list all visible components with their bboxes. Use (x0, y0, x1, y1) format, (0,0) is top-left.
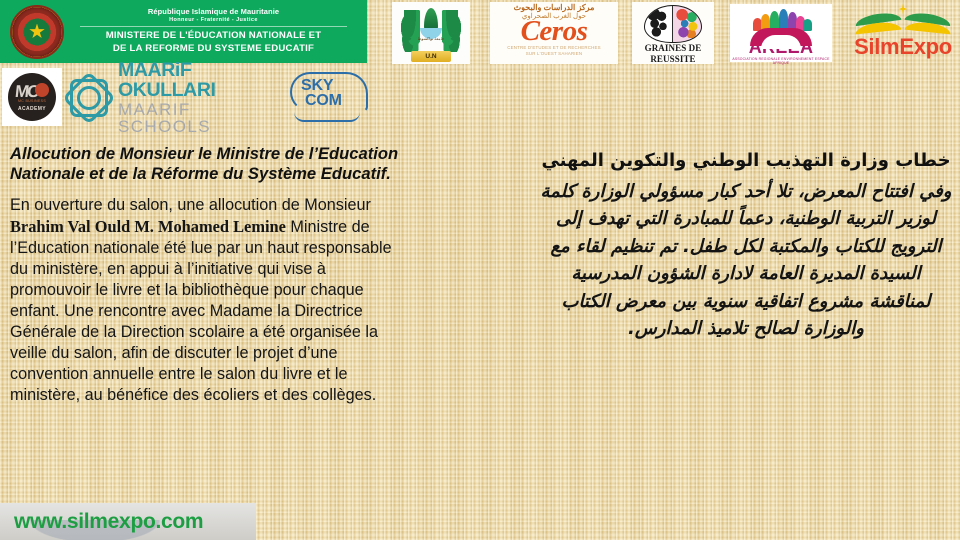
maarif-wordmark-top: MAARiF OKULLARI (118, 60, 280, 101)
ministry-country-line: République Islamique de Mauritanie (66, 7, 361, 16)
spark-icon (899, 3, 907, 15)
ministry-banner-text: République Islamique de Mauritanie Honne… (64, 5, 367, 57)
mc-dot-icon (35, 83, 49, 97)
ceros-logo: مركز الدراسات والبحوث حول الغرب الصحراوي… (490, 2, 618, 64)
un-laurel-logo: جامعة نواكشوط U.N (392, 2, 470, 64)
laurel-left-icon (400, 10, 420, 52)
french-text-column: Allocution de Monsieur le Ministre de l’… (10, 144, 410, 406)
skycom-logo: SKY COM (288, 70, 368, 124)
minister-name: Brahim Val Ould M. Mohamed Lemine (10, 217, 286, 236)
mc-academy-disc-icon: MC MC BUSINESS ACADEMY (8, 73, 56, 121)
areea-logo: AREEA ASSOCIATION REGIONALE ENVIRONNEMEN… (730, 4, 832, 62)
silmexpo-logo: SilmExpo (848, 2, 958, 64)
ministry-title-line-1: MINISTERE DE L'ÉDUCATION NATIONALE ET (66, 30, 361, 43)
arabic-body-paragraph: وفي افتتاح المعرض، تلا أحد كبار مسؤولي ا… (540, 178, 952, 342)
silmexpo-wordmark: SilmExpo (848, 36, 958, 58)
skycom-swoosh-icon (294, 112, 360, 122)
mc-academy-logo: MC MC BUSINESS ACADEMY (2, 68, 62, 126)
maarif-wordmark-bottom: MAARIF SCHOOLS (118, 101, 280, 137)
website-url-text[interactable]: www.silmexpo.com (0, 510, 203, 534)
french-body-part-1: En ouverture du salon, une allocution de… (10, 196, 371, 214)
ceros-subtitle-line-1: CENTRE D'ETUDES ET DE RECHERCHES (490, 45, 618, 51)
graines-title-line-2: REUSSITE (632, 55, 714, 65)
french-body-part-2: Ministre de l’Education nationale été lu… (10, 218, 392, 405)
mauritania-state-seal-icon (10, 5, 64, 59)
top-logo-strip: République Islamique de Mauritanie Honne… (0, 0, 960, 64)
ministry-divider (80, 26, 347, 27)
maarif-schools-logo: MAARiF OKULLARI MAARIF SCHOOLS (68, 72, 280, 124)
ceros-subtitle-line-2: SUR L'OUEST SAHARIEN (490, 51, 618, 57)
laurel-right-icon (442, 10, 462, 52)
areea-arc-icon (750, 28, 812, 46)
arabic-heading: خطاب وزارة التهذيب الوطني والتكوين المهن… (540, 148, 952, 174)
maarif-wordmark-group: MAARiF OKULLARI MAARIF SCHOOLS (118, 60, 280, 137)
slide-canvas: République Islamique de Mauritanie Honne… (0, 0, 960, 540)
un-ribbon-label: U.N (411, 51, 451, 62)
ceros-arabic-line-1: مركز الدراسات والبحوث (490, 4, 618, 13)
maarif-rosette-icon (68, 77, 110, 119)
open-book-icon (851, 4, 955, 38)
french-heading: Allocution de Monsieur le Ministre de l’… (10, 144, 410, 185)
un-logo-inner: جامعة نواكشوط U.N (392, 2, 470, 64)
ministry-banner: République Islamique de Mauritanie Honne… (0, 0, 367, 63)
un-arabic-caption: جامعة نواكشوط (417, 37, 445, 42)
skycom-wordmark-bottom: COM (305, 93, 342, 109)
graines-title-line-1: GRAINES DE (632, 44, 714, 54)
arabic-text-column: خطاب وزارة التهذيب الوطني والتكوين المهن… (540, 148, 952, 342)
ministry-title-line-2: DE LA REFORME DU SYSTEME EDUCATIF (66, 43, 361, 56)
graines-de-reussite-logo: GRAINES DE REUSSITE (632, 2, 714, 64)
areea-subtitle: ASSOCIATION REGIONALE ENVIRONNEMENT ESPA… (730, 57, 832, 65)
website-url-band: www.silmexpo.com (0, 503, 256, 540)
mc-line-2: ACADEMY (8, 106, 56, 112)
ceros-wordmark: Ceros (490, 18, 618, 45)
brain-icon (644, 5, 702, 43)
ministry-motto-line: Honneur - Fraternité - Justice (66, 17, 361, 25)
french-body-paragraph: En ouverture du salon, une allocution de… (10, 195, 410, 407)
mc-line-1: MC BUSINESS (8, 99, 56, 103)
